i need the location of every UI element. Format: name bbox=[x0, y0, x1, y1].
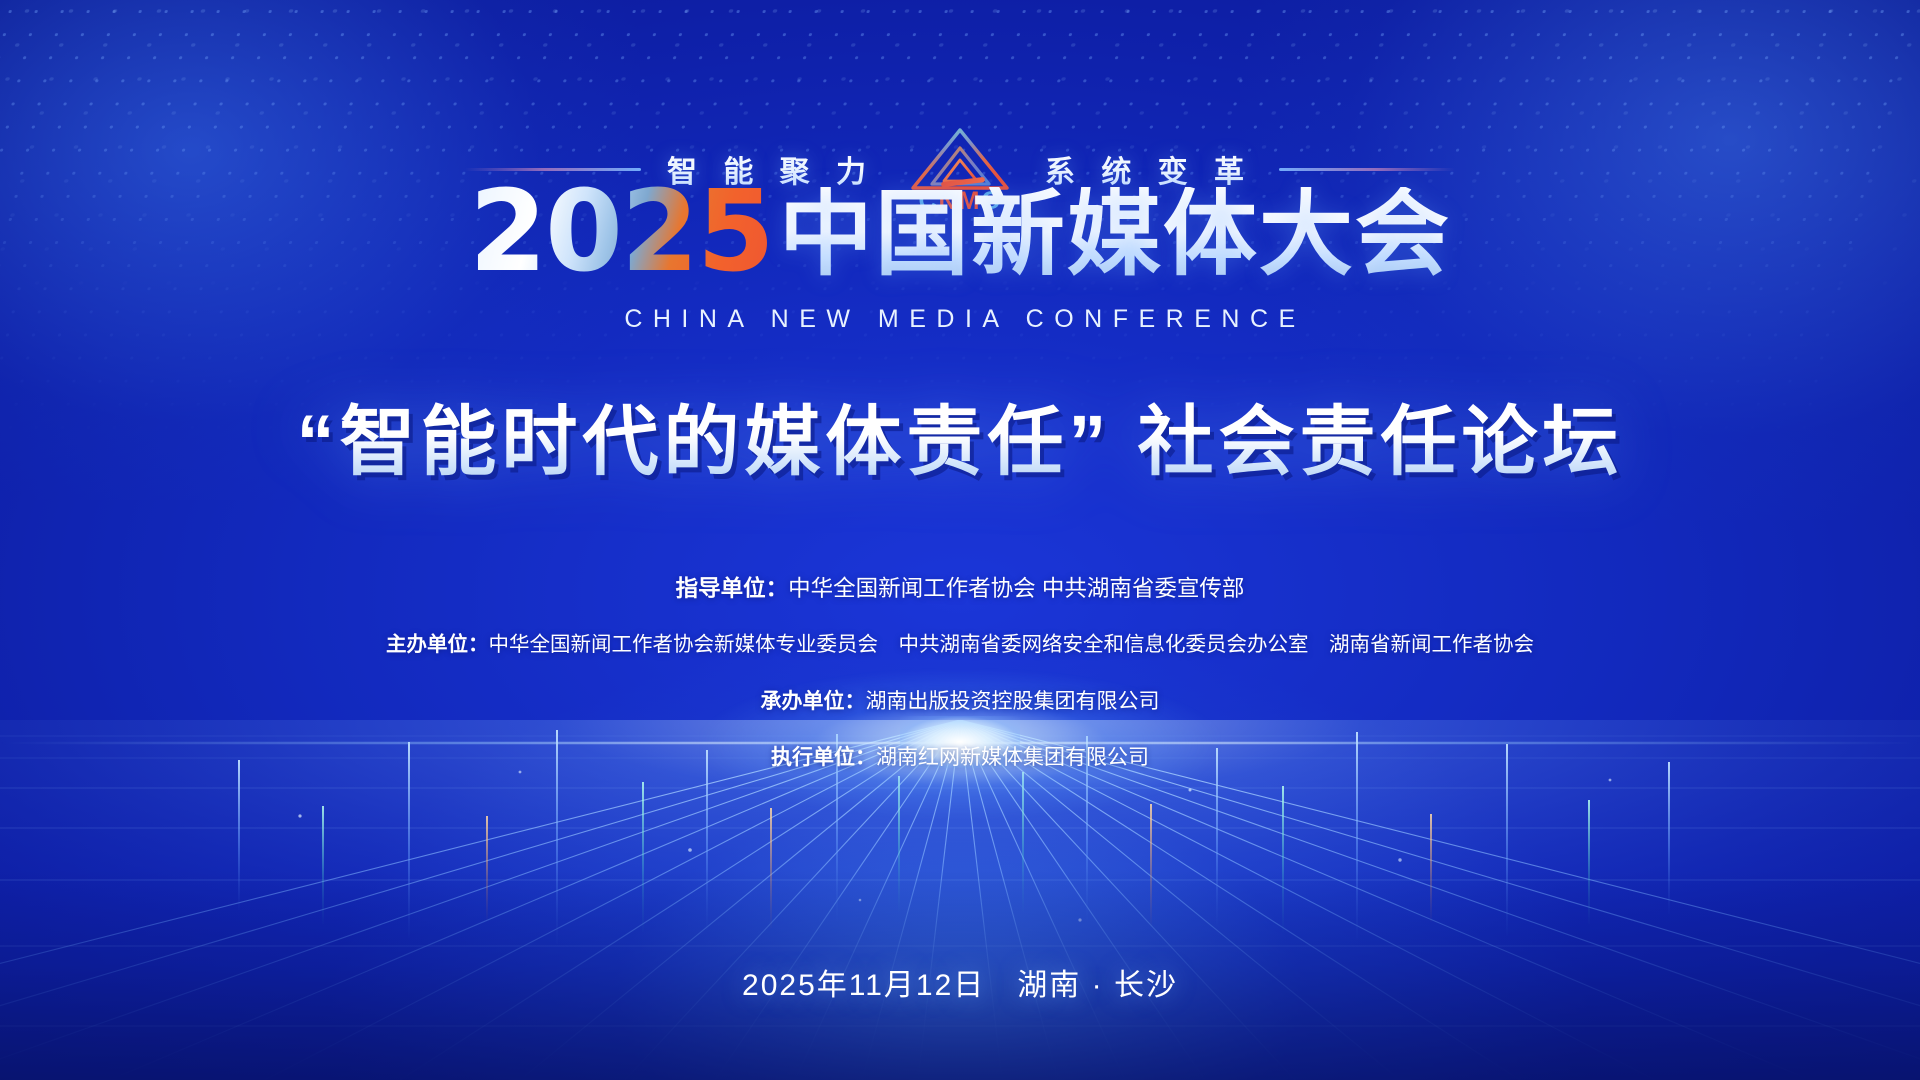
conference-year: 2025 bbox=[469, 180, 779, 285]
credit-value: 湖南出版投资控股集团有限公司 bbox=[866, 690, 1160, 713]
credit-value: 湖南红网新媒体集团有限公司 bbox=[876, 746, 1149, 769]
forum-title: “智能时代的媒体责任” 社会责任论坛 bbox=[0, 380, 1920, 490]
conference-title: 2025 中国新媒体大会 bbox=[0, 180, 1920, 285]
credit-line: 指导单位：中华全国新闻工作者协会 中共湖南省委宣传部 bbox=[0, 575, 1920, 602]
credit-label: 执行单位： bbox=[771, 746, 876, 769]
conference-poster: 智 能 聚 力 bbox=[0, 0, 1920, 1080]
date-location: 2025年11月12日 湖南 · 长沙 bbox=[0, 960, 1920, 1004]
credit-line: 执行单位：湖南红网新媒体集团有限公司 bbox=[0, 745, 1920, 770]
organizer-credits: 指导单位：中华全国新闻工作者协会 中共湖南省委宣传部 主办单位：中华全国新闻工作… bbox=[0, 575, 1920, 801]
conference-name-en: CHINA NEW MEDIA CONFERENCE bbox=[0, 305, 1920, 334]
credit-line: 主办单位：中华全国新闻工作者协会新媒体专业委员会 中共湖南省委网络安全和信息化委… bbox=[0, 633, 1920, 658]
credit-label: 承办单位： bbox=[761, 690, 866, 713]
credit-value: 中华全国新闻工作者协会新媒体专业委员会 中共湖南省委网络安全和信息化委员会办公室… bbox=[489, 633, 1535, 656]
credit-value: 中华全国新闻工作者协会 中共湖南省委宣传部 bbox=[788, 576, 1244, 601]
credit-label: 主办单位： bbox=[386, 633, 489, 656]
credit-line: 承办单位：湖南出版投资控股集团有限公司 bbox=[0, 689, 1920, 714]
conference-name-cn: 中国新媒体大会 bbox=[779, 187, 1451, 285]
credit-label: 指导单位： bbox=[676, 576, 789, 601]
tagline-rule-right bbox=[1279, 168, 1455, 171]
